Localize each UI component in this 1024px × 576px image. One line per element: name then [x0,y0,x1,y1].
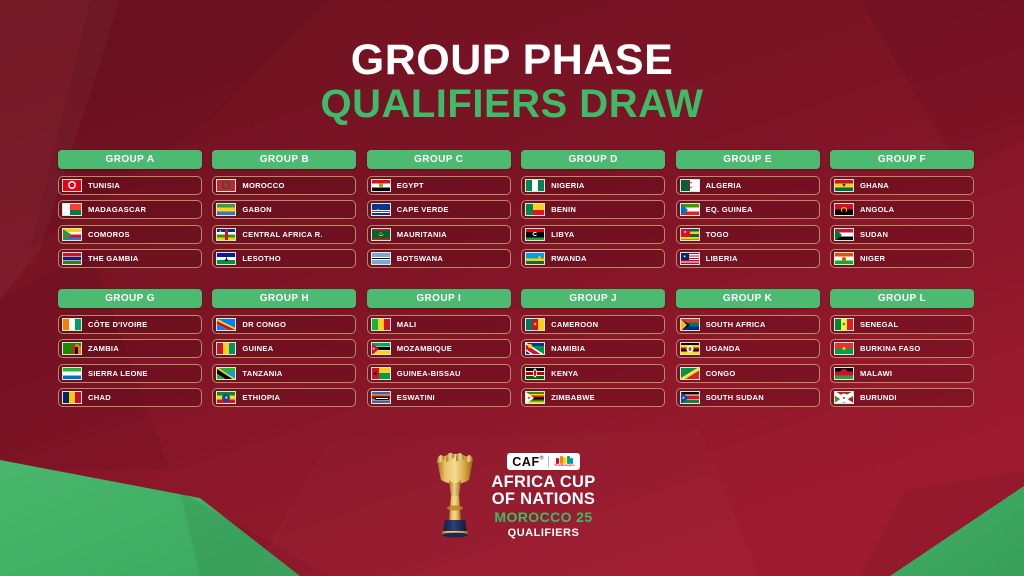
host-year: MOROCCO 25 [494,509,592,525]
group-column: GROUP GCÔTE D'IVOIREZAMBIASIERRA LEONECH… [58,289,202,407]
team-row[interactable]: SIERRA LEONE [58,364,202,383]
team-name: COMOROS [88,230,130,239]
team-row[interactable]: NIGER [830,249,974,268]
group-column: GROUP ATUNISIAMADAGASCARCOMOROSTHE GAMBI… [58,150,202,268]
team-row[interactable]: ETHIOPIA [212,388,356,407]
team-name: CÔTE D'IVOIRE [88,320,147,329]
team-row[interactable]: ESWATINI [367,388,511,407]
group-column: GROUP JCAMEROONNAMIBIAKENYAZIMBABWE [521,289,665,407]
stage-label: QUALIFIERS [508,527,580,539]
flag-icon [371,203,391,216]
flag-icon [680,342,700,355]
team-row[interactable]: CENTRAL AFRICA R. [212,225,356,244]
flag-icon [680,179,700,192]
team-name: ALGERIA [706,181,742,190]
event-logo-lockup: CAF® TotalEnergies AFRICA CUP OF NATIONS… [0,446,1024,542]
team-name: ZAMBIA [88,344,119,353]
team-row[interactable]: SOUTH SUDAN [676,388,820,407]
flag-icon [834,367,854,380]
team-row[interactable]: GABON [212,200,356,219]
group-column: GROUP DNIGERIABENINLIBYARWANDA [521,150,665,268]
team-row[interactable]: MALI [367,315,511,334]
title-line-1: GROUP PHASE [0,38,1024,82]
team-row[interactable]: MALAWI [830,364,974,383]
team-name: NIGER [860,254,885,263]
flag-icon [216,203,236,216]
group-header: GROUP D [521,150,665,169]
team-name: ETHIOPIA [242,393,280,402]
team-name: SUDAN [860,230,888,239]
flag-icon [525,252,545,265]
flag-icon [834,252,854,265]
team-name: CAPE VERDE [397,205,449,214]
group-header: GROUP A [58,150,202,169]
flag-icon [62,318,82,331]
flag-icon [371,228,391,241]
flag-icon [371,318,391,331]
group-column: GROUP EALGERIAEQ. GUINEATOGOLIBERIA [676,150,820,268]
team-name: EQ. GUINEA [706,205,753,214]
flag-icon [62,203,82,216]
flag-icon [216,367,236,380]
flag-icon [834,228,854,241]
flag-icon [680,228,700,241]
group-header: GROUP K [676,289,820,308]
team-row[interactable]: CONGO [676,364,820,383]
team-name: RWANDA [551,254,587,263]
group-header: GROUP L [830,289,974,308]
afcon-trophy-icon [428,446,482,542]
team-row[interactable]: LIBYA [521,225,665,244]
team-name: EGYPT [397,181,424,190]
team-name: UGANDA [706,344,741,353]
team-name: DR CONGO [242,320,286,329]
team-name: CHAD [88,393,111,402]
badge-divider [548,456,549,467]
team-name: GABON [242,205,272,214]
flag-icon [371,179,391,192]
flag-icon [216,179,236,192]
caf-wordmark: CAF® [512,453,543,471]
flag-icon [371,342,391,355]
flag-icon [216,252,236,265]
group-header: GROUP B [212,150,356,169]
flag-icon [216,228,236,241]
flag-icon [62,179,82,192]
title-line-2: QUALIFIERS DRAW [0,83,1024,125]
event-name-line-1: AFRICA CUP [491,474,595,491]
team-row[interactable]: TOGO [676,225,820,244]
team-row[interactable]: RWANDA [521,249,665,268]
team-row[interactable]: CAPE VERDE [367,200,511,219]
team-name: GHANA [860,181,889,190]
team-name: NAMIBIA [551,344,585,353]
team-name: ESWATINI [397,393,435,402]
groups-grid: GROUP ATUNISIAMADAGASCARCOMOROSTHE GAMBI… [58,150,974,407]
flag-icon [371,252,391,265]
flag-icon [371,367,391,380]
team-name: SENEGAL [860,320,898,329]
team-name: BURKINA FASO [860,344,921,353]
flag-icon [834,391,854,404]
team-row[interactable]: SOUTH AFRICA [676,315,820,334]
team-row[interactable]: MOZAMBIQUE [367,339,511,358]
team-name: SOUTH AFRICA [706,320,766,329]
team-name: TOGO [706,230,729,239]
flag-icon [680,252,700,265]
flag-icon [834,342,854,355]
flag-icon [680,391,700,404]
team-row[interactable]: CAMEROON [521,315,665,334]
team-name: MAURITANIA [397,230,447,239]
team-row[interactable]: MOROCCO [212,176,356,195]
totalenergies-label: TotalEnergies [554,464,574,467]
team-row[interactable]: UGANDA [676,339,820,358]
team-name: LIBYA [551,230,574,239]
team-row[interactable]: EGYPT [367,176,511,195]
flag-icon [680,367,700,380]
group-column: GROUP KSOUTH AFRICAUGANDACONGOSOUTH SUDA… [676,289,820,407]
flag-icon [525,367,545,380]
flag-icon [525,203,545,216]
team-name: SIERRA LEONE [88,369,148,378]
flag-icon [525,179,545,192]
flag-icon [680,203,700,216]
team-row[interactable]: TUNISIA [58,176,202,195]
team-row[interactable]: THE GAMBIA [58,249,202,268]
team-name: CENTRAL AFRICA R. [242,230,322,239]
flag-icon [62,228,82,241]
group-header: GROUP C [367,150,511,169]
team-row[interactable]: BURKINA FASO [830,339,974,358]
group-column: GROUP IMALIMOZAMBIQUEGUINEA-BISSAUESWATI… [367,289,511,407]
flag-icon [216,391,236,404]
team-row[interactable]: CÔTE D'IVOIRE [58,315,202,334]
team-row[interactable]: LIBERIA [676,249,820,268]
team-name: BOTSWANA [397,254,443,263]
team-name: BURUNDI [860,393,897,402]
team-row[interactable]: MADAGASCAR [58,200,202,219]
flag-icon [525,342,545,355]
team-row[interactable]: MAURITANIA [367,225,511,244]
team-name: MOROCCO [242,181,284,190]
team-name: TANZANIA [242,369,282,378]
totalenergies-logo: TotalEnergies [554,456,574,467]
flag-icon [834,179,854,192]
team-name: LESOTHO [242,254,280,263]
team-name: GUINEA [242,344,273,353]
flag-icon [525,318,545,331]
team-row[interactable]: BURUNDI [830,388,974,407]
team-name: CAMEROON [551,320,598,329]
group-header: GROUP H [212,289,356,308]
team-row[interactable]: COMOROS [58,225,202,244]
team-name: ANGOLA [860,205,894,214]
caf-badge: CAF® TotalEnergies [507,453,579,470]
team-row[interactable]: SUDAN [830,225,974,244]
flag-icon [525,228,545,241]
event-name-line-2: OF NATIONS [492,491,596,508]
group-column: GROUP LSENEGALBURKINA FASOMALAWIBURUNDI [830,289,974,407]
group-column: GROUP CEGYPTCAPE VERDEMAURITANIABOTSWANA [367,150,511,268]
group-column: GROUP FGHANAANGOLASUDANNIGER [830,150,974,268]
team-row[interactable]: GUINEA [212,339,356,358]
group-header: GROUP J [521,289,665,308]
team-row[interactable]: NIGERIA [521,176,665,195]
team-name: MALI [397,320,417,329]
flag-icon [525,391,545,404]
team-row[interactable]: BOTSWANA [367,249,511,268]
team-name: GUINEA-BISSAU [397,369,461,378]
team-row[interactable]: GUINEA-BISSAU [367,364,511,383]
team-name: NIGERIA [551,181,584,190]
group-header: GROUP E [676,150,820,169]
team-row[interactable]: LESOTHO [212,249,356,268]
team-name: MOZAMBIQUE [397,344,452,353]
team-row[interactable]: ZAMBIA [58,339,202,358]
team-name: LIBERIA [706,254,738,263]
page-title: GROUP PHASE QUALIFIERS DRAW [0,38,1024,125]
team-row[interactable]: NAMIBIA [521,339,665,358]
flag-icon [62,252,82,265]
team-name: SOUTH SUDAN [706,393,764,402]
team-row[interactable]: CHAD [58,388,202,407]
team-name: MADAGASCAR [88,205,146,214]
flag-icon [371,391,391,404]
team-row[interactable]: ANGOLA [830,200,974,219]
team-name: BENIN [551,205,576,214]
team-row[interactable]: ZIMBABWE [521,388,665,407]
group-header: GROUP F [830,150,974,169]
team-row[interactable]: SENEGAL [830,315,974,334]
team-row[interactable]: EQ. GUINEA [676,200,820,219]
team-name: KENYA [551,369,578,378]
team-row[interactable]: ALGERIA [676,176,820,195]
flag-icon [216,342,236,355]
team-name: TUNISIA [88,181,120,190]
team-row[interactable]: BENIN [521,200,665,219]
flag-icon [62,342,82,355]
team-row[interactable]: DR CONGO [212,315,356,334]
team-name: ZIMBABWE [551,393,595,402]
group-column: GROUP HDR CONGOGUINEATANZANIAETHIOPIA [212,289,356,407]
flag-icon [62,391,82,404]
team-row[interactable]: TANZANIA [212,364,356,383]
team-name: MALAWI [860,369,892,378]
group-column: GROUP BMOROCCOGABONCENTRAL AFRICA R.LESO… [212,150,356,268]
flag-icon [62,367,82,380]
team-name: THE GAMBIA [88,254,139,263]
flag-icon [834,203,854,216]
group-header: GROUP G [58,289,202,308]
team-row[interactable]: KENYA [521,364,665,383]
flag-icon [680,318,700,331]
flag-icon [834,318,854,331]
flag-icon [216,318,236,331]
team-row[interactable]: GHANA [830,176,974,195]
team-name: CONGO [706,369,736,378]
group-header: GROUP I [367,289,511,308]
